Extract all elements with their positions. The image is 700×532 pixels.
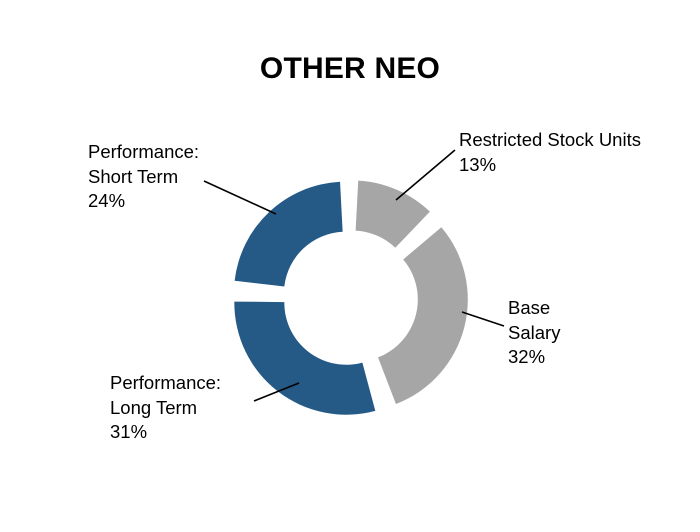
donut-chart-graphic: [0, 0, 700, 532]
slice-label-line: Base: [508, 296, 560, 321]
slice-performance-long-term[interactable]: [234, 302, 375, 415]
slice-value-performance-short-term: 24%: [88, 189, 199, 214]
slice-label-base-salary: Base Salary 32%: [508, 296, 560, 370]
slice-label-performance-long-term: Performance: Long Term 31%: [110, 371, 221, 445]
leader-line-performance-short-term: [204, 181, 276, 214]
leader-line-restricted-stock-units: [396, 150, 455, 200]
donut-chart-figure: OTHER NEO Performance: Short Term 24% Re…: [0, 0, 700, 532]
slice-restricted-stock-units[interactable]: [356, 181, 430, 248]
slice-value-base-salary: 32%: [508, 345, 560, 370]
slice-label-line: Short Term: [88, 165, 199, 190]
slice-label-performance-short-term: Performance: Short Term 24%: [88, 140, 199, 214]
slice-base-salary[interactable]: [378, 227, 468, 404]
slice-label-line: Restricted Stock Units: [459, 128, 641, 153]
slice-performance-short-term[interactable]: [235, 182, 343, 287]
slice-value-restricted-stock-units: 13%: [459, 153, 641, 178]
slice-label-line: Salary: [508, 321, 560, 346]
leader-line-base-salary: [462, 312, 504, 326]
donut-slices: [234, 181, 467, 415]
slice-label-line: Performance:: [110, 371, 221, 396]
slice-label-line: Long Term: [110, 396, 221, 421]
slice-label-restricted-stock-units: Restricted Stock Units 13%: [459, 128, 641, 177]
slice-label-line: Performance:: [88, 140, 199, 165]
slice-value-performance-long-term: 31%: [110, 420, 221, 445]
